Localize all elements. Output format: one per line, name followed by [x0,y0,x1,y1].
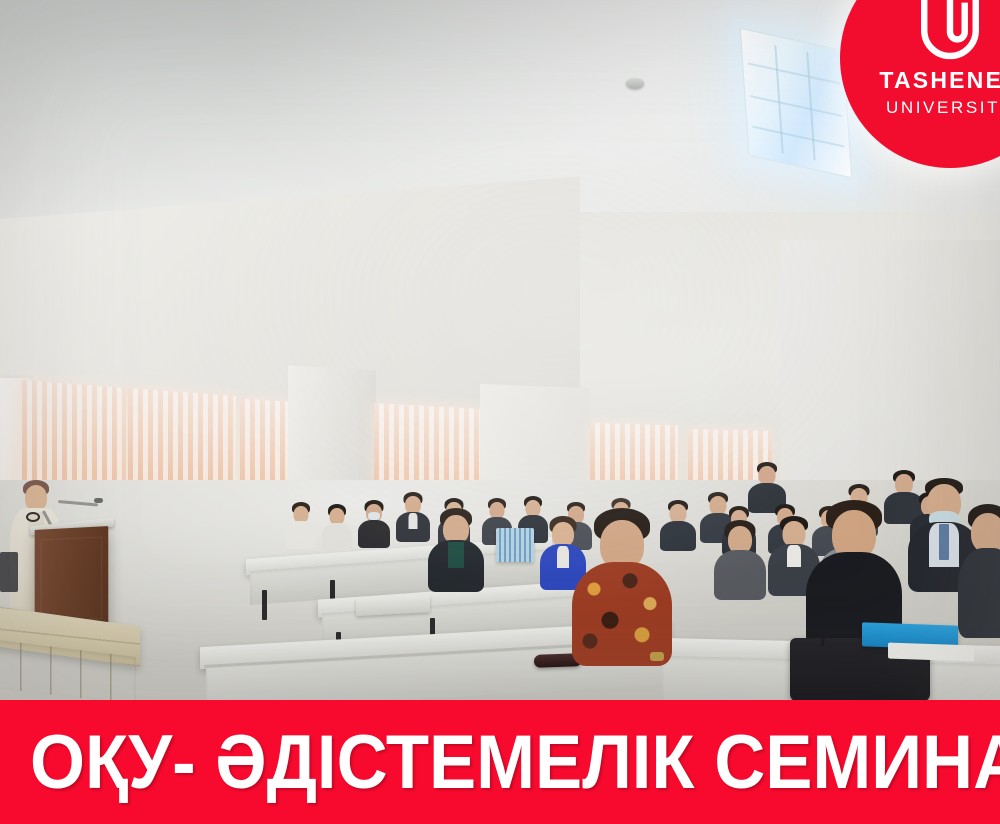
logo-subtitle: UNIVERSITY [886,99,1000,116]
attendee-foreground-dark-jacket [428,508,484,590]
microphone-head [94,498,103,503]
attendee-patterned-dress [572,508,672,664]
smoke-detector-icon [626,78,644,89]
face-mask [368,512,380,520]
attendee [286,502,316,548]
attendee-masked [358,500,390,548]
title-banner: ОҚУ- ӘДІСТЕМЕЛІК СЕМИНАР [0,700,1000,824]
paper-stack [888,642,974,661]
attendee-partial-right [958,504,1000,634]
presenter-necklace [26,512,40,522]
attendee-grey-jacket [714,520,766,598]
ceiling-light-panel [740,28,853,179]
promo-image-root: TASHENEV UNIVERSITY ОҚУ- ӘДІСТЕМЕЛІК СЕМ… [0,0,1000,824]
water-bottle-cluster [496,528,534,562]
title-banner-text: ОҚУ- ӘДІСТЕМЕЛІК СЕМИНАР [30,719,1000,806]
desk-leg [262,590,267,620]
necktie [939,524,949,560]
wristwatch [650,652,664,661]
chair [0,552,18,592]
tu-monogram-icon [904,0,996,67]
attendee [322,504,352,550]
attendee [396,492,430,544]
logo-title: TASHENEV [879,69,1000,92]
